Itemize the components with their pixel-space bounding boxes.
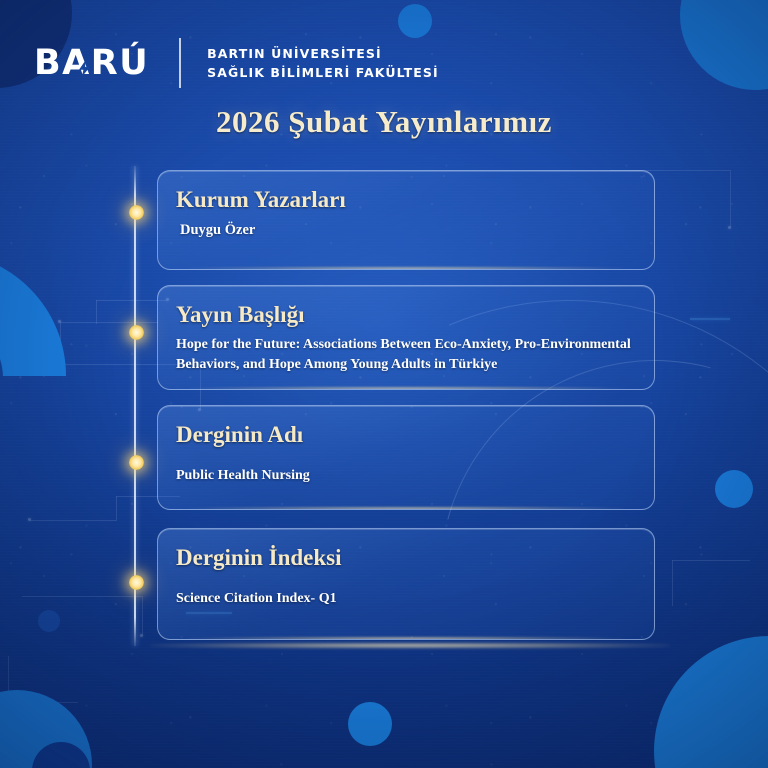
card-value: Science Citation Index- Q1 <box>158 571 654 609</box>
bottom-glow-line <box>150 643 670 648</box>
timeline-dot <box>129 455 144 470</box>
brand-header: BARÚ BARTIN ÜNİVERSİTESİ SAĞLIK BİLİMLER… <box>34 38 439 88</box>
baru-logo: BARÚ <box>34 46 153 81</box>
card-heading: Derginin İndeksi <box>158 529 654 571</box>
timeline-dot <box>129 325 144 340</box>
baru-logo-text: BARÚ <box>34 43 149 83</box>
faculty-name-line: SAĞLIK BİLİMLERİ FAKÜLTESİ <box>207 63 439 82</box>
header-divider <box>179 38 181 88</box>
faculty-name: BARTIN ÜNİVERSİTESİ SAĞLIK BİLİMLERİ FAK… <box>207 44 439 83</box>
info-card-journal-index: Derginin İndeksi Science Citation Index-… <box>157 528 655 640</box>
timeline-dot <box>129 575 144 590</box>
info-card-publication-title: Yayın Başlığı Hope for the Future: Assoc… <box>157 285 655 390</box>
card-heading: Yayın Başlığı <box>158 286 654 328</box>
timeline-line <box>134 166 136 646</box>
info-card-authors: Kurum Yazarları Duygu Özer <box>157 170 655 270</box>
card-heading: Kurum Yazarları <box>158 171 654 213</box>
card-value: Duygu Özer <box>158 213 654 241</box>
university-name-line: BARTIN ÜNİVERSİTESİ <box>207 44 439 63</box>
poster-canvas: BARÚ BARTIN ÜNİVERSİTESİ SAĞLIK BİLİMLER… <box>0 0 768 768</box>
page-title: 2026 Şubat Yayınlarımız <box>0 104 768 140</box>
card-value: Public Health Nursing <box>158 448 654 486</box>
card-heading: Derginin Adı <box>158 406 654 448</box>
card-value: Hope for the Future: Associations Betwee… <box>158 328 654 375</box>
info-card-journal-name: Derginin Adı Public Health Nursing <box>157 405 655 510</box>
timeline-dot <box>129 205 144 220</box>
